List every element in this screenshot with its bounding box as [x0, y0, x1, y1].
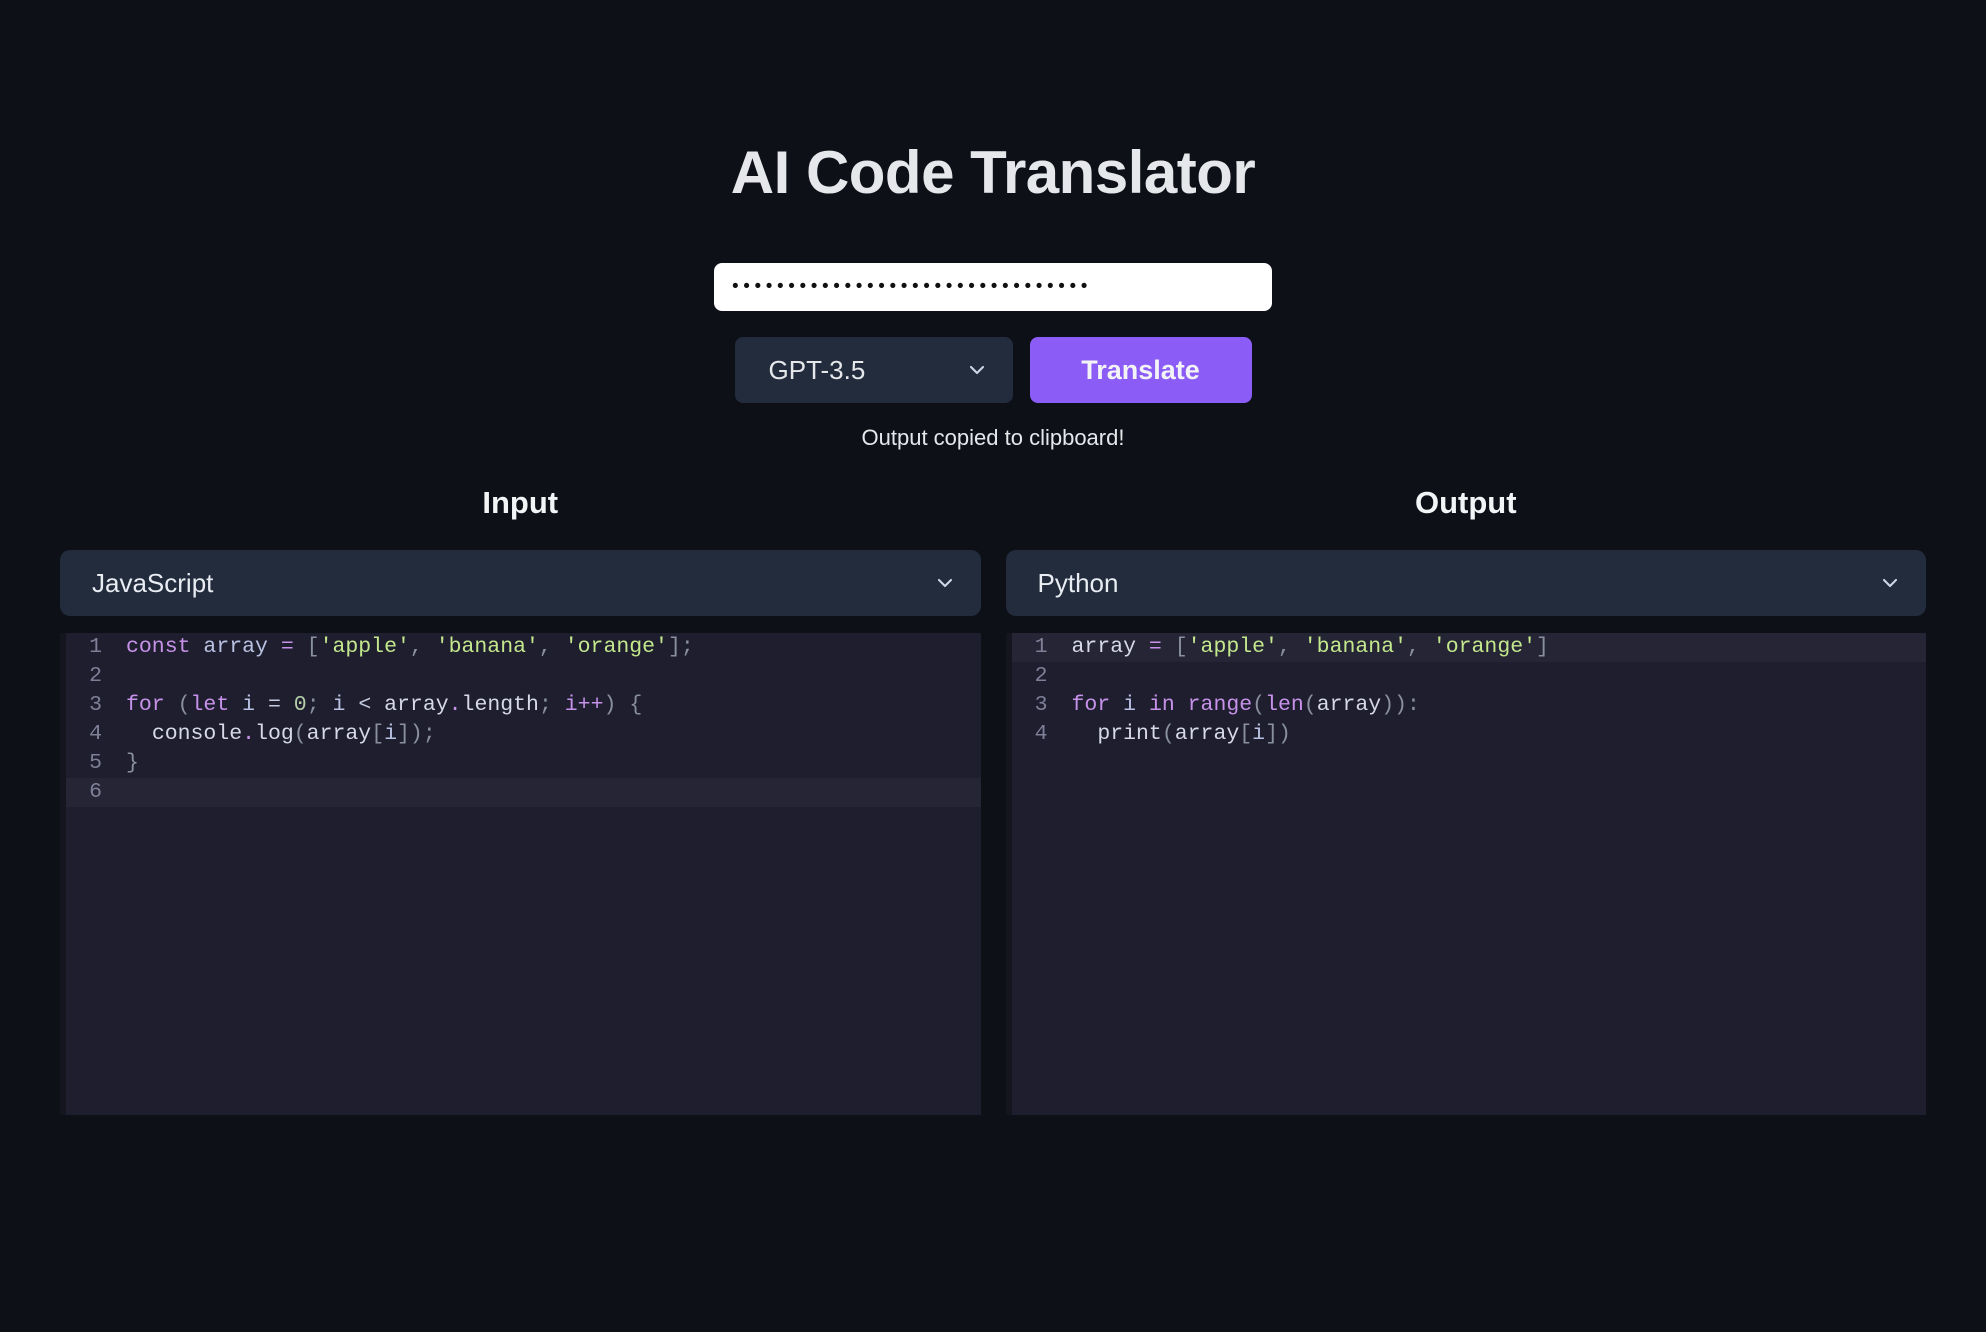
line-number: 2 — [60, 662, 114, 691]
status-message: Output copied to clipboard! — [862, 425, 1125, 451]
input-panel-heading: Input — [60, 485, 981, 521]
code-line-text: const array = ['apple', 'banana', 'orang… — [114, 633, 981, 662]
model-select-value: GPT-3.5 — [769, 355, 967, 386]
code-line-text: print(array[i]) — [1060, 720, 1927, 749]
line-number: 6 — [60, 778, 114, 807]
code-line: 5} — [60, 749, 981, 778]
code-line-text: for i in range(len(array)): — [1060, 691, 1927, 720]
code-line: 1const array = ['apple', 'banana', 'oran… — [60, 633, 981, 662]
output-language-value: Python — [1038, 568, 1881, 599]
code-line: 1array = ['apple', 'banana', 'orange'] — [1006, 633, 1927, 662]
chevron-down-icon — [967, 360, 987, 380]
code-line: 4 console.log(array[i]); — [60, 720, 981, 749]
code-line-text: console.log(array[i]); — [114, 720, 981, 749]
editor-panels: Input JavaScript 1const array = ['apple'… — [0, 485, 1986, 1115]
code-line: 3for (let i = 0; i < array.length; i++) … — [60, 691, 981, 720]
output-panel: Output Python 1array = ['apple', 'banana… — [1006, 485, 1927, 1115]
line-number: 3 — [1006, 691, 1060, 720]
output-panel-heading: Output — [1006, 485, 1927, 521]
output-code-editor[interactable]: 1array = ['apple', 'banana', 'orange']23… — [1006, 633, 1927, 1115]
line-number: 1 — [1006, 633, 1060, 662]
code-line: 2 — [60, 662, 981, 691]
input-language-select[interactable]: JavaScript — [60, 550, 981, 616]
code-line-text: for (let i = 0; i < array.length; i++) { — [114, 691, 981, 720]
line-number: 5 — [60, 749, 114, 778]
line-number: 4 — [60, 720, 114, 749]
chevron-down-icon — [1880, 573, 1900, 593]
controls-section: GPT-3.5 Translate Output copied to clipb… — [0, 263, 1986, 451]
translate-button[interactable]: Translate — [1030, 337, 1252, 403]
code-line: 3for i in range(len(array)): — [1006, 691, 1927, 720]
input-code-editor[interactable]: 1const array = ['apple', 'banana', 'oran… — [60, 633, 981, 1115]
input-panel: Input JavaScript 1const array = ['apple'… — [60, 485, 981, 1115]
code-line-text: array = ['apple', 'banana', 'orange'] — [1060, 633, 1927, 662]
page-title: AI Code Translator — [0, 0, 1986, 203]
line-number: 4 — [1006, 720, 1060, 749]
model-select[interactable]: GPT-3.5 — [735, 337, 1013, 403]
code-line: 4 print(array[i]) — [1006, 720, 1927, 749]
line-number: 3 — [60, 691, 114, 720]
line-number: 2 — [1006, 662, 1060, 691]
api-key-input[interactable] — [714, 263, 1272, 311]
model-and-action-row: GPT-3.5 Translate — [735, 337, 1252, 403]
code-line-text: } — [114, 749, 981, 778]
app-root: AI Code Translator GPT-3.5 Translate Out… — [0, 0, 1986, 1332]
output-language-select[interactable]: Python — [1006, 550, 1927, 616]
code-line: 2 — [1006, 662, 1927, 691]
chevron-down-icon — [935, 573, 955, 593]
code-line: 6 — [60, 778, 981, 807]
line-number: 1 — [60, 633, 114, 662]
input-language-value: JavaScript — [92, 568, 935, 599]
